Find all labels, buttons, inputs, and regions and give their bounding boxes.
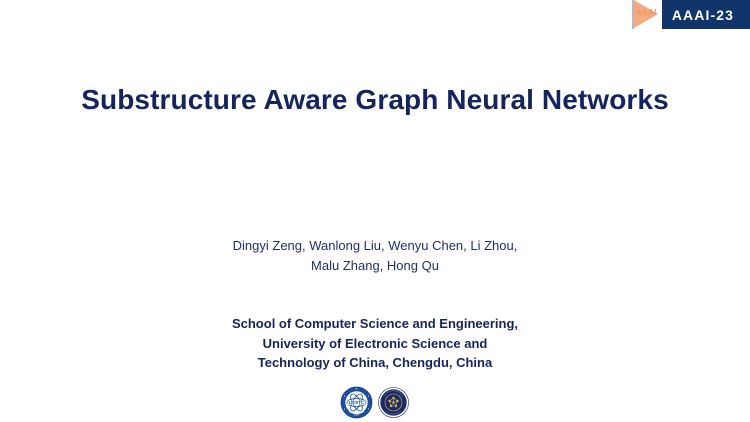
affiliation-block: School of Computer Science and Engineeri…: [0, 314, 750, 373]
author-list: Dingyi Zeng, Wanlong Liu, Wenyu Chen, Li…: [0, 236, 750, 276]
svg-text:UESTC: UESTC: [349, 400, 364, 405]
uestc-logo: UESTC 1956: [340, 386, 373, 419]
author-line: Dingyi Zeng, Wanlong Liu, Wenyu Chen, Li…: [0, 236, 750, 256]
affiliation-line: University of Electronic Science and: [0, 334, 750, 354]
page-title: Substructure Aware Graph Neural Networks: [0, 82, 750, 118]
institution-logos: UESTC 1956: [0, 386, 750, 419]
badge-body: AAAI-23: [662, 0, 750, 29]
author-line: Malu Zhang, Hong Qu: [0, 256, 750, 276]
badge-arrow-decoration: AAAI: [632, 0, 662, 29]
affiliation-line: School of Computer Science and Engineeri…: [0, 314, 750, 334]
university-seal-logo: [377, 386, 410, 419]
conference-badge-label: AAAI-23: [672, 8, 734, 22]
conference-badge: AAAI AAAI-23: [632, 0, 750, 29]
svg-text:1956: 1956: [354, 414, 360, 417]
badge-watermark-text: AAAI: [636, 7, 657, 19]
affiliation-line: Technology of China, Chengdu, China: [0, 353, 750, 373]
